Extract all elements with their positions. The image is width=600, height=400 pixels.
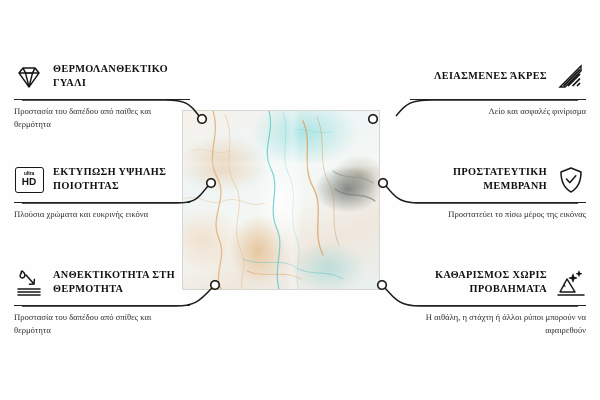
- ultra-hd-icon-main-label: HD: [22, 178, 36, 188]
- hotspot-dot-clean: [378, 281, 387, 290]
- feature-heat-resistant-glass[interactable]: ΘΕΡΜΟΛΑΝΘΕΚΤΙΚΟ ΓΥΑΛΙ Προστασία του δαπέ…: [14, 60, 190, 130]
- feature-header: ultra HD ΕΚΤΥΠΩΣΗ ΥΨΗΛΗΣ ΠΟΙΟΤΗΤΑΣ: [14, 163, 190, 197]
- feature-divider: [14, 305, 190, 306]
- feature-description: Πλούσια χρώματα και ευκρινής εικόνα: [14, 208, 190, 221]
- feature-description: Προστατεύει το πίσω μέρος της εικόνας: [410, 208, 586, 221]
- ultra-hd-icon: ultra HD: [14, 165, 44, 195]
- hotspot-dot-heat: [211, 281, 220, 290]
- feature-protective-membrane[interactable]: ΠΡΟΣΤΑΤΕΥΤΙΚΗ ΜΕΜΒΡΑΝΗ Προστατεύει το πί…: [410, 163, 586, 221]
- feature-easy-cleaning[interactable]: ΚΑΘΑΡΙΣΜΟΣ ΧΩΡΙΣ ΠΡΟΒΛΗΜΑΤΑ Η αιθάλη, η …: [410, 266, 586, 336]
- feature-title: ΛΕΙΑΣΜΕΝΕΣ ΆΚΡΕΣ: [434, 70, 547, 84]
- feature-heat-durability[interactable]: ΑΝΘΕΚΤΙΚΟΤΗΤΑ ΣΤΗ ΘΕΡΜΟΤΗΤΑ Προστασία το…: [14, 266, 190, 336]
- feature-title: ΘΕΡΜΟΛΑΝΘΕΚΤΙΚΟ ΓΥΑΛΙ: [53, 63, 190, 90]
- beveled-edges-icon: [556, 62, 586, 92]
- feature-high-quality-print[interactable]: ultra HD ΕΚΤΥΠΩΣΗ ΥΨΗΛΗΣ ΠΟΙΟΤΗΤΑΣ Πλούσ…: [14, 163, 190, 221]
- hotspot-dot-print: [207, 179, 216, 188]
- feature-title: ΑΝΘΕΚΤΙΚΟΤΗΤΑ ΣΤΗ ΘΕΡΜΟΤΗΤΑ: [53, 269, 190, 296]
- feature-divider: [410, 99, 586, 100]
- feature-divider: [14, 99, 190, 100]
- feature-title: ΕΚΤΥΠΩΣΗ ΥΨΗΛΗΣ ΠΟΙΟΤΗΤΑΣ: [53, 166, 190, 193]
- feature-header: ΑΝΘΕΚΤΙΚΟΤΗΤΑ ΣΤΗ ΘΕΡΜΟΤΗΤΑ: [14, 266, 190, 300]
- hotspot-dot-edges: [369, 115, 378, 124]
- feature-header: ΚΑΘΑΡΙΣΜΟΣ ΧΩΡΙΣ ΠΡΟΒΛΗΜΑΤΑ: [410, 266, 586, 300]
- shield-check-icon: [556, 165, 586, 195]
- diamond-icon: [14, 62, 44, 92]
- feature-header: ΘΕΡΜΟΛΑΝΘΕΚΤΙΚΟ ΓΥΑΛΙ: [14, 60, 190, 94]
- hotspot-dot-membrane: [379, 179, 388, 188]
- feature-description: Προστασία του δαπέδου από σπίθες και θερ…: [14, 311, 190, 336]
- feature-description: Η αιθάλη, η στάχτη ή άλλοι ρύποι μπορούν…: [410, 311, 586, 336]
- infographic-stage: ΘΕΡΜΟΛΑΝΘΕΚΤΙΚΟ ΓΥΑΛΙ Προστασία του δαπέ…: [0, 0, 600, 400]
- hotspot-dot-glass: [198, 115, 207, 124]
- feature-description: Προστασία του δαπέδου από παίθες και θερ…: [14, 105, 190, 130]
- feature-divider: [14, 202, 190, 203]
- feature-title: ΚΑΘΑΡΙΣΜΟΣ ΧΩΡΙΣ ΠΡΟΒΛΗΜΑΤΑ: [410, 269, 547, 296]
- feature-divider: [410, 202, 586, 203]
- feature-divider: [410, 305, 586, 306]
- flame-deflect-icon: [14, 268, 44, 298]
- feature-description: Λείο και ασφαλές φινίρισμα: [410, 105, 586, 118]
- sparkle-wipe-icon: [556, 268, 586, 298]
- feature-title: ΠΡΟΣΤΑΤΕΥΤΙΚΗ ΜΕΜΒΡΑΝΗ: [410, 166, 547, 193]
- feature-header: ΠΡΟΣΤΑΤΕΥΤΙΚΗ ΜΕΜΒΡΑΝΗ: [410, 163, 586, 197]
- feature-polished-edges[interactable]: ΛΕΙΑΣΜΕΝΕΣ ΆΚΡΕΣ Λείο και ασφαλές φινίρι…: [410, 60, 586, 118]
- feature-header: ΛΕΙΑΣΜΕΝΕΣ ΆΚΡΕΣ: [410, 60, 586, 94]
